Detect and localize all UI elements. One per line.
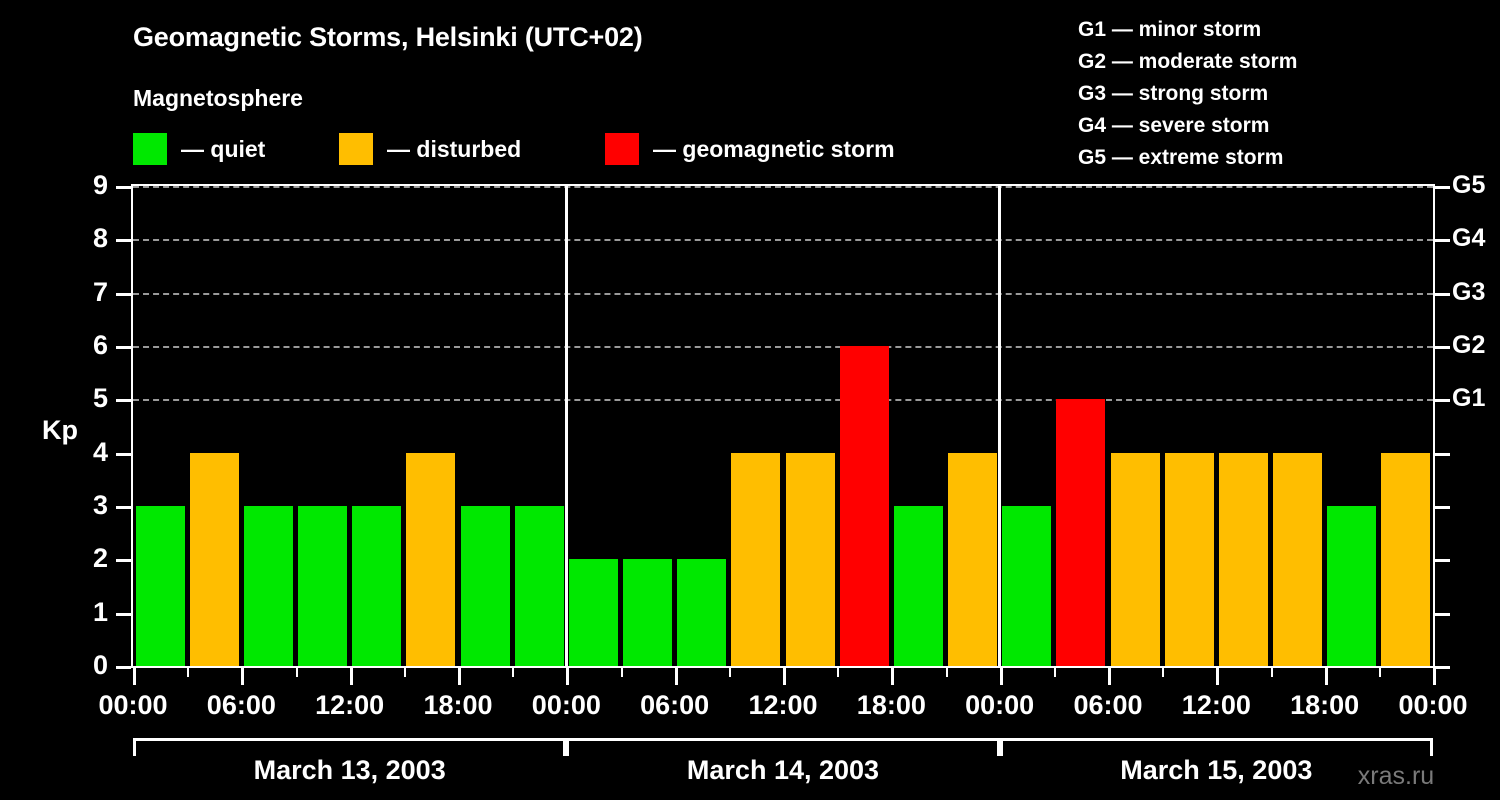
x-tick-major-0	[133, 668, 136, 685]
y-tick-mark-3	[116, 506, 131, 509]
bar	[136, 506, 185, 666]
g-tick-mark-g2	[1435, 346, 1450, 349]
day-bracket-2	[566, 738, 999, 756]
y-tick-label-2: 2	[68, 545, 108, 572]
g-tick-label-g4: G4	[1452, 226, 1485, 251]
plot-inner	[133, 186, 1433, 666]
day-label-1: March 13, 2003	[133, 755, 566, 786]
x-tick-label-12: 00:00	[1398, 690, 1467, 721]
g-legend-row-g2: G2 — moderate storm	[1078, 46, 1297, 78]
x-tick-label-1: 06:00	[207, 690, 276, 721]
x-tick-label-6: 12:00	[748, 690, 817, 721]
x-tick-label-0: 00:00	[98, 690, 167, 721]
y-tick-mark-8	[116, 239, 131, 242]
x-tick-label-8: 00:00	[965, 690, 1034, 721]
bar	[406, 453, 455, 666]
bar	[569, 559, 618, 666]
bar	[352, 506, 401, 666]
g-legend-row-g3: G3 — strong storm	[1078, 78, 1297, 110]
y-tick-label-8: 8	[68, 225, 108, 252]
legend-swatch-geomagnetic-storm-icon	[605, 133, 639, 165]
x-tick-minor-17	[1054, 668, 1056, 677]
bar	[461, 506, 510, 666]
y-tick-mark-1	[116, 613, 131, 616]
x-tick-minor-23	[1379, 668, 1381, 677]
x-tick-label-4: 00:00	[532, 690, 601, 721]
day-bracket-1	[133, 738, 566, 756]
bar	[731, 453, 780, 666]
x-tick-major-2	[350, 668, 353, 685]
x-tick-minor-5	[404, 668, 406, 677]
x-tick-major-10	[1216, 668, 1219, 685]
bar	[1056, 399, 1105, 666]
x-tick-label-2: 12:00	[315, 690, 384, 721]
g-legend-row-g1: G1 — minor storm	[1078, 14, 1297, 46]
day-divider-2	[998, 186, 1001, 666]
g-legend-row-g5: G5 — extreme storm	[1078, 142, 1297, 174]
bar	[515, 506, 564, 666]
x-tick-minor-13	[837, 668, 839, 677]
x-tick-label-3: 18:00	[423, 690, 492, 721]
y-axis-label: Kp	[42, 415, 78, 446]
y-tick-mark-5	[116, 399, 131, 402]
day-label-2: March 14, 2003	[566, 755, 999, 786]
watermark: xras.ru	[1358, 762, 1434, 791]
bar	[1381, 453, 1430, 666]
g-tick-mark-g1	[1435, 399, 1450, 402]
y-tick-label-6: 6	[68, 332, 108, 359]
y-tick-label-9: 9	[68, 172, 108, 199]
x-tick-minor-9	[621, 668, 623, 677]
legend-entry-geomagnetic-storm: — geomagnetic storm	[605, 133, 895, 165]
y-tick-mark-4	[116, 453, 131, 456]
x-tick-minor-7	[512, 668, 514, 677]
bar	[298, 506, 347, 666]
x-tick-label-7: 18:00	[857, 690, 926, 721]
g-tick-label-g1: G1	[1452, 386, 1485, 411]
plot-area	[131, 184, 1435, 668]
y-tick-mark-7	[116, 293, 131, 296]
bar	[894, 506, 943, 666]
legend-label-geomagnetic-storm: — geomagnetic storm	[653, 133, 895, 165]
right-axis-minor-tick-0	[1435, 666, 1450, 669]
x-tick-label-11: 18:00	[1290, 690, 1359, 721]
bar	[1111, 453, 1160, 666]
bar	[677, 559, 726, 666]
g-tick-label-g5: G5	[1452, 173, 1485, 198]
g-tick-mark-g5	[1435, 186, 1450, 189]
gridline-kp-7	[133, 293, 1433, 295]
x-tick-minor-15	[946, 668, 948, 677]
legend-label-quiet: — quiet	[181, 133, 265, 165]
legend-swatch-quiet-icon	[133, 133, 167, 165]
y-tick-mark-2	[116, 559, 131, 562]
legend-entry-disturbed: — disturbed	[339, 133, 521, 165]
bar	[840, 346, 889, 666]
x-tick-minor-21	[1271, 668, 1273, 677]
y-tick-label-0: 0	[68, 652, 108, 679]
x-tick-major-9	[1108, 668, 1111, 685]
x-tick-major-7	[891, 668, 894, 685]
x-tick-major-3	[458, 668, 461, 685]
x-tick-label-9: 06:00	[1073, 690, 1142, 721]
x-tick-label-5: 06:00	[640, 690, 709, 721]
g-legend-row-g4: G4 — severe storm	[1078, 110, 1297, 142]
bar	[1327, 506, 1376, 666]
g-tick-mark-g3	[1435, 293, 1450, 296]
y-tick-label-3: 3	[68, 492, 108, 519]
x-tick-minor-11	[729, 668, 731, 677]
x-tick-minor-19	[1162, 668, 1164, 677]
right-axis-minor-tick-2	[1435, 559, 1450, 562]
bar	[786, 453, 835, 666]
x-tick-major-8	[1000, 668, 1003, 685]
x-tick-label-10: 12:00	[1182, 690, 1251, 721]
y-tick-label-5: 5	[68, 385, 108, 412]
y-tick-mark-0	[116, 666, 131, 669]
y-tick-mark-6	[116, 346, 131, 349]
bar	[1002, 506, 1051, 666]
x-tick-major-6	[783, 668, 786, 685]
magnetosphere-label: Magnetosphere	[133, 85, 303, 112]
bar	[623, 559, 672, 666]
x-tick-major-12	[1433, 668, 1436, 685]
day-divider-1	[565, 186, 568, 666]
legend-label-disturbed: — disturbed	[387, 133, 521, 165]
y-tick-mark-9	[116, 186, 131, 189]
bar	[1219, 453, 1268, 666]
gridline-kp-8	[133, 239, 1433, 241]
g-tick-mark-g4	[1435, 239, 1450, 242]
bar	[1273, 453, 1322, 666]
y-tick-label-7: 7	[68, 279, 108, 306]
y-tick-label-1: 1	[68, 599, 108, 626]
gridline-kp-9	[133, 186, 1433, 188]
bar	[190, 453, 239, 666]
g-tick-label-g3: G3	[1452, 280, 1485, 305]
bar	[948, 453, 997, 666]
g-scale-legend: G1 — minor stormG2 — moderate stormG3 — …	[1078, 14, 1297, 174]
day-bracket-3	[1000, 738, 1433, 756]
x-tick-major-4	[566, 668, 569, 685]
legend-swatch-disturbed-icon	[339, 133, 373, 165]
chart-title: Geomagnetic Storms, Helsinki (UTC+02)	[133, 22, 643, 53]
gridline-kp-5	[133, 399, 1433, 401]
x-tick-minor-1	[187, 668, 189, 677]
x-tick-minor-3	[296, 668, 298, 677]
legend-entry-quiet: — quiet	[133, 133, 265, 165]
gridline-kp-6	[133, 346, 1433, 348]
bar	[244, 506, 293, 666]
x-tick-major-1	[241, 668, 244, 685]
right-axis-minor-tick-3	[1435, 506, 1450, 509]
g-tick-label-g2: G2	[1452, 333, 1485, 358]
x-tick-major-11	[1325, 668, 1328, 685]
x-tick-major-5	[675, 668, 678, 685]
bar	[1165, 453, 1214, 666]
right-axis-minor-tick-1	[1435, 613, 1450, 616]
right-axis-minor-tick-4	[1435, 453, 1450, 456]
